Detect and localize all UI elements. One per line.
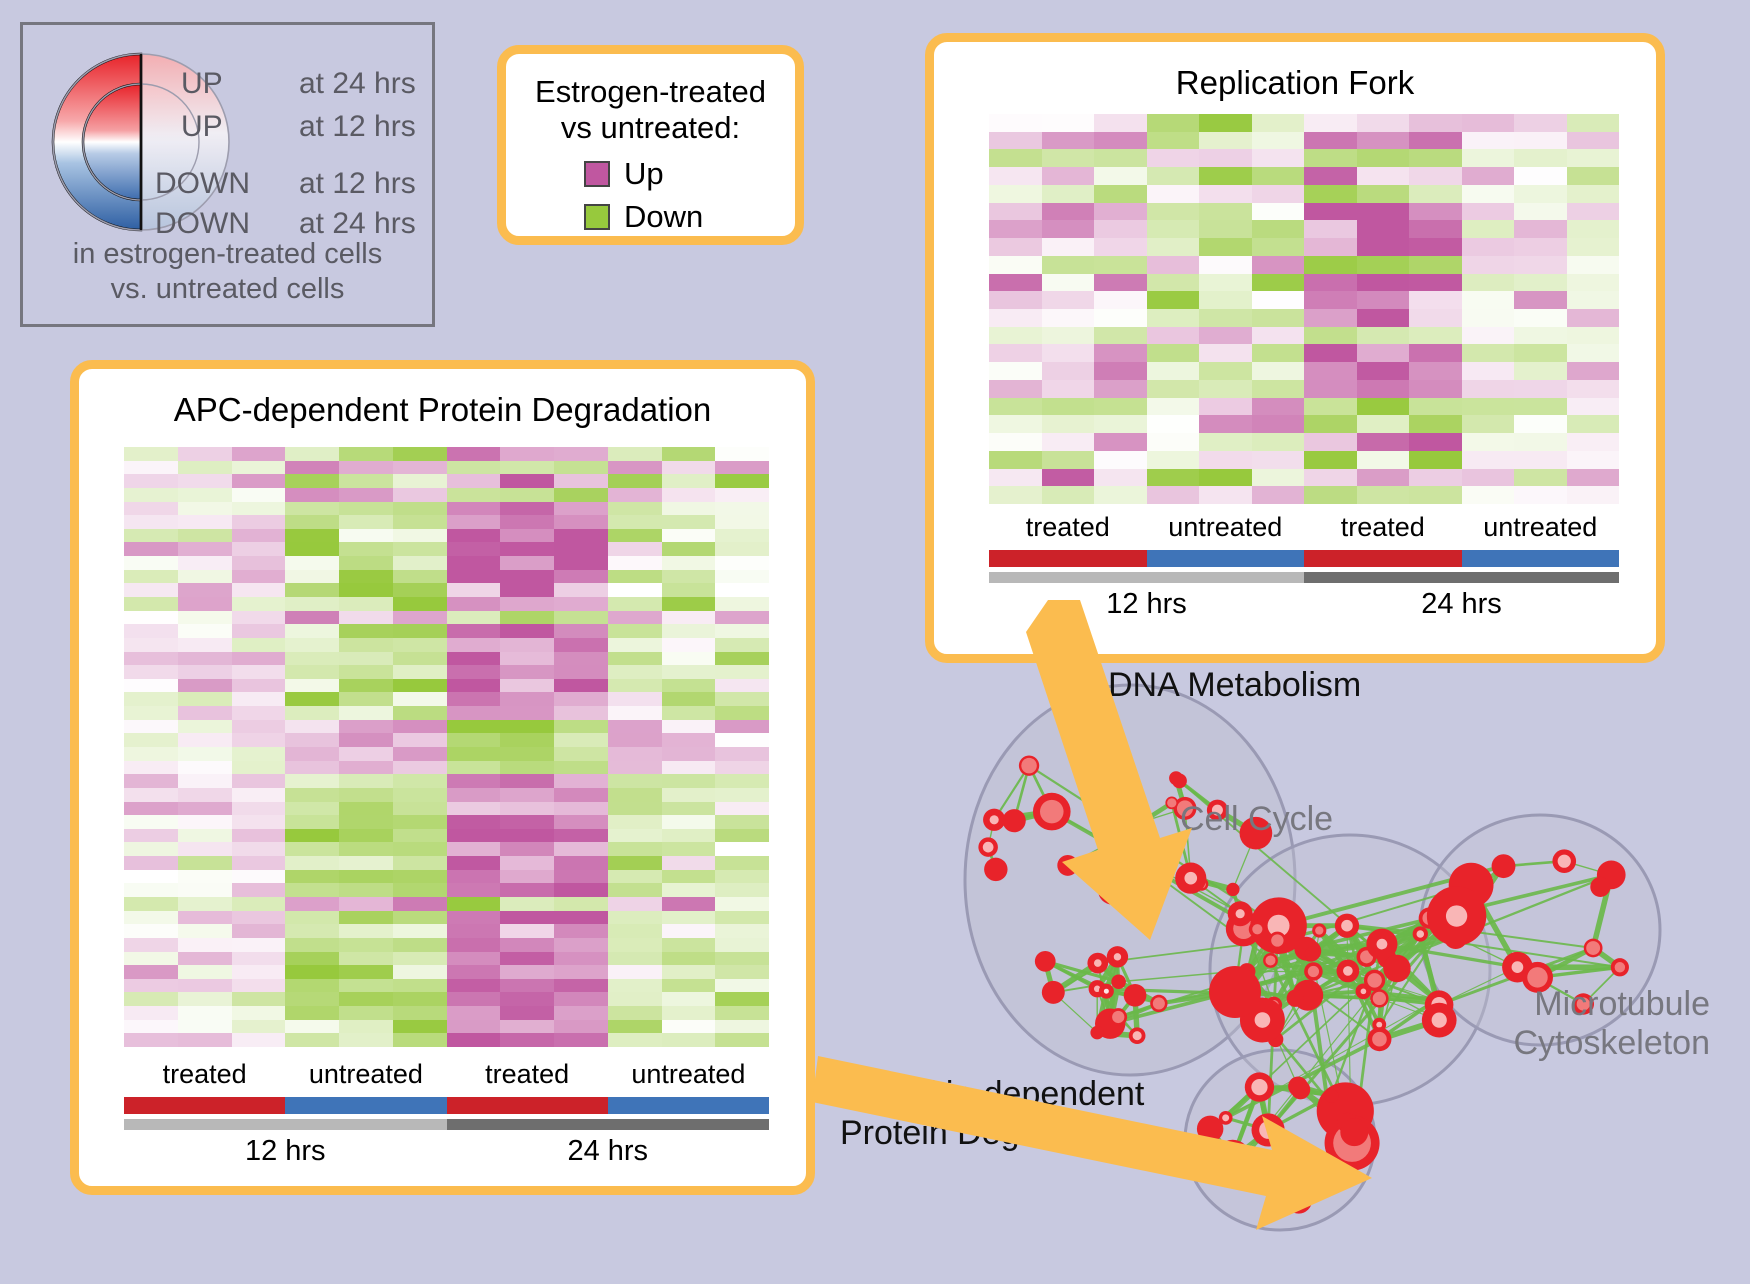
network-node[interactable] <box>1109 1008 1127 1026</box>
heatmap-cell <box>1357 398 1410 416</box>
key-time-up-12: at 12 hrs <box>299 110 416 143</box>
heatmap-cell <box>1094 291 1147 309</box>
heatmap-cell <box>447 897 501 911</box>
heatmap-cell <box>285 611 339 625</box>
heatmap-cell <box>124 870 178 884</box>
node-inner <box>1417 930 1425 938</box>
heatmap-cell <box>393 733 447 747</box>
node-inner <box>1376 1022 1382 1028</box>
heatmap-cell <box>715 788 769 802</box>
heatmap-cell <box>1199 185 1252 203</box>
heatmap-cell <box>662 447 716 461</box>
heatmap-cell <box>285 515 339 529</box>
heatmap-cell <box>339 597 393 611</box>
network-node[interactable] <box>1310 1160 1332 1182</box>
heatmap-cell <box>339 1033 393 1047</box>
heatmap-cell <box>554 842 608 856</box>
network-node[interactable] <box>1305 947 1319 961</box>
heatmap-cell <box>1409 327 1462 345</box>
heatmap-cell <box>339 802 393 816</box>
network-node[interactable] <box>983 809 1005 831</box>
up-swatch-icon <box>584 161 610 187</box>
heatmap-cell <box>339 502 393 516</box>
network-node[interactable] <box>1098 876 1127 905</box>
network-node[interactable] <box>1584 939 1603 958</box>
heatmap-cell <box>285 1006 339 1020</box>
heatmap-cell <box>232 856 286 870</box>
node-outer <box>1042 981 1065 1004</box>
group-bar-segment <box>1147 550 1305 567</box>
heatmap-cell <box>608 652 662 666</box>
node-inner <box>983 842 994 853</box>
time-label-24hrs-rf: 24 hrs <box>1304 588 1619 621</box>
heatmap-cell <box>285 938 339 952</box>
node-outer <box>1383 955 1410 982</box>
heatmap-cell <box>1199 132 1252 150</box>
heatmap-cell <box>232 556 286 570</box>
heatmap-cell <box>715 979 769 993</box>
heatmap-cell <box>339 774 393 788</box>
heatmap-cell <box>1567 451 1620 469</box>
heatmap-cell <box>285 665 339 679</box>
network-node[interactable] <box>1172 773 1187 788</box>
node-outer <box>1340 1118 1368 1146</box>
heatmap-cell <box>1094 344 1147 362</box>
heatmap-cell <box>500 679 554 693</box>
heatmap-cell <box>1252 185 1305 203</box>
heatmap-cell <box>393 720 447 734</box>
figure-canvas: UPat 24 hrs UPat 12 hrs DOWNat 12 hrs DO… <box>0 0 1750 1279</box>
heatmap-cell <box>1514 220 1567 238</box>
heatmap-cell <box>662 802 716 816</box>
network-node[interactable] <box>1285 1187 1312 1214</box>
down-swatch-icon <box>584 204 610 230</box>
heatmap-cell <box>554 624 608 638</box>
heatmap-cell <box>447 706 501 720</box>
heatmap-cell <box>554 542 608 556</box>
heatmap-cell <box>124 924 178 938</box>
heatmap-cell <box>124 692 178 706</box>
network-node[interactable] <box>1099 984 1114 999</box>
heatmap-cell <box>608 842 662 856</box>
network-node[interactable] <box>1356 983 1372 999</box>
heatmap-cell <box>1042 274 1095 292</box>
heatmap-cell <box>715 774 769 788</box>
heatmap-cell <box>1409 380 1462 398</box>
heatmap-cell <box>608 692 662 706</box>
network-node[interactable] <box>1367 1027 1391 1051</box>
heatmap-cell <box>1199 362 1252 380</box>
heatmap-cell <box>554 992 608 1006</box>
heatmap-cell <box>1567 256 1620 274</box>
heatmap-cell <box>1567 167 1620 185</box>
group-labels-apc: treated untreated treated untreated <box>124 1059 769 1090</box>
heatmap-cell <box>715 992 769 1006</box>
heatmap-cell <box>662 502 716 516</box>
heatmap-cell <box>1199 309 1252 327</box>
heatmap-cell <box>608 774 662 788</box>
heatmap-cell <box>1199 344 1252 362</box>
heatmap-cell <box>554 706 608 720</box>
heatmap-cell <box>178 815 232 829</box>
heatmap-cell <box>662 597 716 611</box>
network-node[interactable] <box>984 858 1007 881</box>
heatmap-cell <box>989 433 1042 451</box>
heatmap-cell <box>1567 380 1620 398</box>
heatmap-cell <box>608 515 662 529</box>
heatmap-cell <box>662 815 716 829</box>
heatmap-cell <box>1514 274 1567 292</box>
heatmap-cell <box>1514 291 1567 309</box>
heatmap-cell <box>1567 238 1620 256</box>
heatmap-cell <box>608 856 662 870</box>
network-node[interactable] <box>1003 809 1026 832</box>
heatmap-cell <box>715 611 769 625</box>
heatmap-cell <box>662 624 716 638</box>
heatmap-cell <box>989 238 1042 256</box>
network-node[interactable] <box>1312 923 1326 937</box>
heatmap-cell <box>447 461 501 475</box>
heatmap-cell <box>232 883 286 897</box>
heatmap-cell <box>715 747 769 761</box>
heatmap-cell <box>339 938 393 952</box>
heatmap-cell <box>124 1006 178 1020</box>
network-node[interactable] <box>1175 863 1206 894</box>
heatmap-cell <box>554 652 608 666</box>
updown-legend-title: Estrogen-treated vs untreated: <box>506 74 795 146</box>
network-node[interactable] <box>1228 901 1253 926</box>
time-label-12hrs-apc: 12 hrs <box>124 1135 447 1168</box>
heatmap-cell <box>715 652 769 666</box>
heatmap-cell <box>1567 291 1620 309</box>
panel-replication-fork: Replication Fork treated untreated treat… <box>925 33 1665 663</box>
heatmap-cell <box>1514 238 1567 256</box>
heatmap-cell <box>124 842 178 856</box>
network-node[interactable] <box>1087 953 1108 974</box>
network-node[interactable] <box>1552 849 1576 873</box>
heatmap-cell <box>124 911 178 925</box>
heatmap-apc <box>124 447 769 1047</box>
heatmap-cell <box>124 979 178 993</box>
node-inner <box>1367 973 1382 988</box>
heatmap-cell <box>662 952 716 966</box>
heatmap-cell <box>285 883 339 897</box>
heatmap-cell <box>1462 415 1515 433</box>
network-node[interactable] <box>1268 932 1286 950</box>
heatmap-cell <box>232 979 286 993</box>
heatmap-cell <box>662 638 716 652</box>
heatmap-cell <box>124 529 178 543</box>
network-node[interactable] <box>1209 966 1261 1018</box>
heatmap-cell <box>178 856 232 870</box>
heatmap-cell <box>662 461 716 475</box>
network-node[interactable] <box>1124 984 1147 1007</box>
network-node[interactable] <box>1427 886 1486 945</box>
heatmap-cell <box>339 788 393 802</box>
heatmap-cell <box>1094 185 1147 203</box>
heatmap-cell <box>1567 114 1620 132</box>
heatmap-cell <box>447 1033 501 1047</box>
heatmap-cell <box>232 542 286 556</box>
heatmap-cell <box>124 733 178 747</box>
heatmap-cell <box>554 733 608 747</box>
heatmap-cell <box>1462 256 1515 274</box>
node-inner <box>1265 955 1275 965</box>
heatmap-cell <box>1409 433 1462 451</box>
key-label-down-24: DOWN <box>155 207 299 241</box>
heatmap-cell <box>393 624 447 638</box>
heatmap-cell <box>447 720 501 734</box>
heatmap-cell <box>447 652 501 666</box>
heatmap-cell <box>1094 220 1147 238</box>
network-node[interactable] <box>1057 855 1078 876</box>
heatmap-cell <box>662 733 716 747</box>
heatmap-cell <box>1094 274 1147 292</box>
heatmap-cell <box>1409 238 1462 256</box>
heatmap-cell <box>447 938 501 952</box>
network-node[interactable] <box>1111 974 1126 989</box>
heatmap-cell <box>285 570 339 584</box>
heatmap-cell <box>1199 149 1252 167</box>
heatmap-cell <box>608 979 662 993</box>
heatmap-cell <box>1042 114 1095 132</box>
heatmap-cell <box>662 474 716 488</box>
heatmap-cell <box>393 952 447 966</box>
heatmap-cell <box>1042 220 1095 238</box>
network-node[interactable] <box>1335 914 1359 938</box>
heatmap-cell <box>1514 185 1567 203</box>
node-inner <box>1512 961 1524 973</box>
heatmap-cell <box>178 665 232 679</box>
heatmap-cell <box>393 542 447 556</box>
heatmap-cell <box>447 829 501 843</box>
network-node[interactable] <box>1249 921 1266 938</box>
legend-label-up: Up <box>624 156 664 192</box>
network-node[interactable] <box>1104 835 1118 849</box>
heatmap-cell <box>1147 451 1200 469</box>
heatmap-cell <box>608 529 662 543</box>
heatmap-cell <box>447 488 501 502</box>
heatmap-cell <box>1147 203 1200 221</box>
network-node[interactable] <box>1107 946 1128 967</box>
heatmap-cell <box>662 829 716 843</box>
heatmap-cell <box>285 502 339 516</box>
heatmap-cell <box>178 515 232 529</box>
heatmap-cell <box>178 979 232 993</box>
heatmap-cell <box>285 556 339 570</box>
heatmap-cell <box>447 502 501 516</box>
network-node[interactable] <box>1325 1089 1339 1103</box>
heatmap-cell <box>608 488 662 502</box>
heatmap-cell <box>1147 256 1200 274</box>
heatmap-cell <box>500 802 554 816</box>
heatmap-cell <box>989 274 1042 292</box>
heatmap-cell <box>1252 486 1305 504</box>
heatmap-cell <box>989 132 1042 150</box>
node-outer <box>1172 773 1187 788</box>
heatmap-cell <box>124 788 178 802</box>
heatmap-cell <box>554 938 608 952</box>
heatmap-cell <box>1567 309 1620 327</box>
heatmap-cell <box>500 692 554 706</box>
network-node[interactable] <box>1165 797 1178 810</box>
heatmap-cell <box>989 362 1042 380</box>
heatmap-cell <box>1304 309 1357 327</box>
heatmap-cell <box>447 542 501 556</box>
heatmap-cell <box>232 488 286 502</box>
heatmap-cell <box>608 788 662 802</box>
network-node[interactable] <box>1042 981 1065 1004</box>
heatmap-cell <box>1567 274 1620 292</box>
group-bar-segment <box>1304 550 1462 567</box>
heatmap-cell <box>715 829 769 843</box>
heatmap-cell <box>285 747 339 761</box>
heatmap-cell <box>608 1020 662 1034</box>
heatmap-cell <box>715 870 769 884</box>
key-row-down-24: DOWNat 24 hrs <box>155 207 416 241</box>
heatmap-cell <box>393 570 447 584</box>
key-label-down-12: DOWN <box>155 167 299 201</box>
heatmap-cell <box>1409 415 1462 433</box>
node-inner <box>1226 1151 1239 1164</box>
network-node[interactable] <box>1263 953 1278 968</box>
heatmap-cell <box>393 461 447 475</box>
heatmap-cell <box>662 856 716 870</box>
heatmap-cell <box>447 638 501 652</box>
heatmap-cell <box>554 597 608 611</box>
axis-apc: treated untreated treated untreated 12 h… <box>124 1059 769 1169</box>
network-node[interactable] <box>1304 962 1323 981</box>
heatmap-cell <box>447 692 501 706</box>
heatmap-cell <box>178 474 232 488</box>
heatmap-cell <box>232 924 286 938</box>
heatmap-cell <box>393 856 447 870</box>
network-node[interactable] <box>1035 951 1056 972</box>
heatmap-cell <box>393 529 447 543</box>
heatmap-cell <box>554 638 608 652</box>
heatmap-cell <box>554 515 608 529</box>
heatmap-cell <box>608 883 662 897</box>
network-node[interactable] <box>978 837 998 857</box>
network-node[interactable] <box>1019 755 1039 775</box>
heatmap-cell <box>124 638 178 652</box>
heatmap-cell <box>500 542 554 556</box>
heatmap-cell <box>1199 451 1252 469</box>
heatmap-cell <box>500 720 554 734</box>
heatmap-cell <box>1357 167 1410 185</box>
heatmap-cell <box>662 611 716 625</box>
heatmap-cell <box>1042 132 1095 150</box>
heatmap-cell <box>285 461 339 475</box>
network-node[interactable] <box>1288 1076 1308 1096</box>
heatmap-cell <box>989 380 1042 398</box>
heatmap-cell <box>124 624 178 638</box>
heatmap-cell <box>393 747 447 761</box>
node-inner <box>1133 1031 1142 1040</box>
heatmap-cell <box>232 747 286 761</box>
heatmap-cell <box>447 583 501 597</box>
heatmap-cell <box>500 447 554 461</box>
heatmap-cell <box>662 924 716 938</box>
heatmap-cell <box>989 291 1042 309</box>
heatmap-cell <box>500 829 554 843</box>
heatmap-cell <box>500 1020 554 1034</box>
heatmap-cell <box>1409 274 1462 292</box>
cluster-label-cell-cycle: Cell Cycle <box>1180 800 1333 839</box>
heatmap-cell <box>662 515 716 529</box>
network-node[interactable] <box>1125 819 1137 831</box>
heatmap-cell <box>554 474 608 488</box>
heatmap-cell <box>715 856 769 870</box>
heatmap-cell <box>178 570 232 584</box>
network-node[interactable] <box>1413 926 1428 941</box>
network-node[interactable] <box>1611 958 1629 976</box>
heatmap-cell <box>1094 415 1147 433</box>
network-node[interactable] <box>1370 989 1388 1007</box>
group-labels-replication-fork: treated untreated treated untreated <box>989 512 1619 543</box>
heatmap-cell <box>1567 344 1620 362</box>
network-node[interactable] <box>1129 1027 1146 1044</box>
network-node[interactable] <box>1150 995 1167 1012</box>
heatmap-cell <box>124 883 178 897</box>
node-inner <box>1236 909 1245 918</box>
heatmap-cell <box>662 761 716 775</box>
heatmap-cell <box>608 870 662 884</box>
network-node[interactable] <box>1226 883 1239 896</box>
heatmap-cell <box>178 1033 232 1047</box>
network-node[interactable] <box>1340 1118 1368 1146</box>
network-node[interactable] <box>1492 854 1516 878</box>
network-node[interactable] <box>1383 955 1410 982</box>
heatmap-cell <box>1357 486 1410 504</box>
heatmap-cell <box>339 952 393 966</box>
cluster-label-dna-metabolism: DNA Metabolism <box>1108 666 1361 705</box>
heatmap-cell <box>339 447 393 461</box>
heatmap-cell <box>1304 291 1357 309</box>
node-outer <box>1209 966 1261 1018</box>
network-node[interactable] <box>1033 793 1071 831</box>
heatmap-cell <box>285 733 339 747</box>
heatmap-cell <box>715 474 769 488</box>
heatmap-cell <box>715 842 769 856</box>
heatmap-cell <box>285 924 339 938</box>
heatmap-cell <box>500 924 554 938</box>
network-node[interactable] <box>1337 960 1360 983</box>
node-inner <box>1586 941 1600 955</box>
heatmap-cell <box>339 733 393 747</box>
heatmap-cell <box>124 856 178 870</box>
node-inner <box>1112 1011 1124 1023</box>
network-node[interactable] <box>1090 1026 1104 1040</box>
heatmap-cell <box>1147 327 1200 345</box>
heatmap-cell <box>500 461 554 475</box>
time-label-12hrs-rf: 12 hrs <box>989 588 1304 621</box>
heatmap-cell <box>232 474 286 488</box>
heatmap-cell <box>608 911 662 925</box>
heatmap-cell <box>715 488 769 502</box>
node-outer <box>1226 883 1239 896</box>
network-node[interactable] <box>1590 877 1610 897</box>
group-color-bar-replication-fork <box>989 550 1619 567</box>
node-outer <box>1288 1076 1308 1096</box>
heatmap-cell <box>662 679 716 693</box>
network-node[interactable] <box>1287 990 1304 1007</box>
heatmap-cell <box>1514 132 1567 150</box>
heatmap-cell <box>1042 344 1095 362</box>
heatmap-cell <box>1147 469 1200 487</box>
heatmap-cell <box>393 474 447 488</box>
heatmap-cell <box>285 474 339 488</box>
